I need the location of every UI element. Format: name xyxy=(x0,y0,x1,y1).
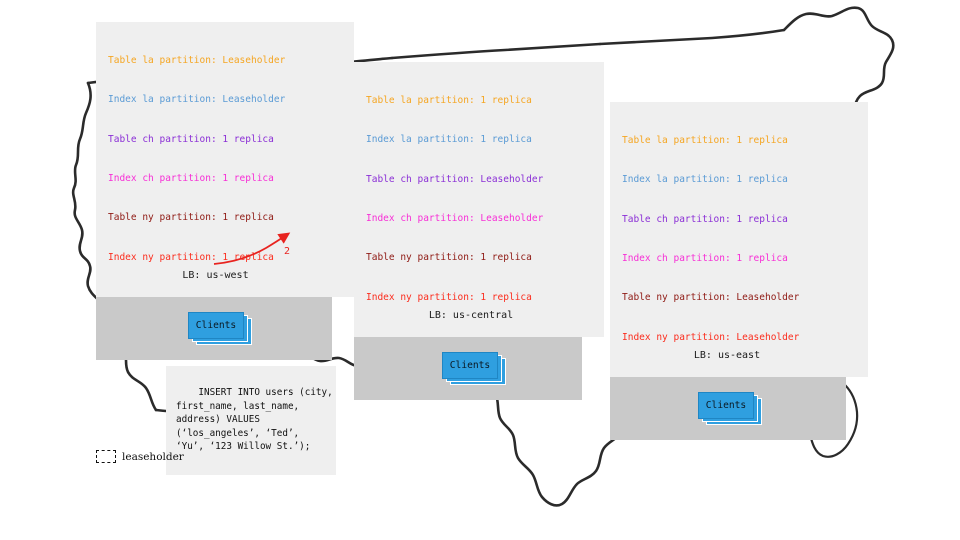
leaseholder-legend-label: leaseholder xyxy=(122,451,184,463)
legend-line-table-ny: Table ny partition: 1 replica xyxy=(366,251,594,264)
legend-line-index-la: Index la partition: Leaseholder xyxy=(108,93,344,106)
legend-line-table-ch: Table ch partition: Leaseholder xyxy=(366,173,594,186)
legend-line-index-la: Index la partition: 1 replica xyxy=(366,133,594,146)
diagram-stage: Table la partition: Leaseholder Index la… xyxy=(0,0,960,540)
load-balancer-us-west[interactable]: LB: us-west xyxy=(163,262,268,288)
clients-us-central[interactable]: Clients xyxy=(442,352,496,377)
partition-legend-us-central: Table la partition: 1 replica Index la p… xyxy=(354,62,604,337)
sql-statement-box: INSERT INTO users (city, first_name, las… xyxy=(166,366,336,475)
clients-label: Clients xyxy=(450,360,490,371)
legend-line-table-ny: Table ny partition: Leaseholder xyxy=(622,291,858,304)
partition-legend-us-east: Table la partition: 1 replica Index la p… xyxy=(610,102,868,377)
clients-us-east[interactable]: Clients xyxy=(698,392,752,417)
sql-statement-text: INSERT INTO users (city, first_name, las… xyxy=(176,387,333,452)
clients-label: Clients xyxy=(196,320,236,331)
clients-button-us-west[interactable]: Clients xyxy=(188,312,244,339)
partition-legend-us-west: Table la partition: Leaseholder Index la… xyxy=(96,22,354,297)
lb-label-us-east: LB: us-east xyxy=(694,350,760,361)
legend-line-table-la: Table la partition: 1 replica xyxy=(366,94,594,107)
leaseholder-legend: leaseholder xyxy=(96,450,184,463)
legend-line-index-la: Index la partition: 1 replica xyxy=(622,173,858,186)
legend-line-index-ch: Index ch partition: 1 replica xyxy=(622,252,858,265)
legend-line-table-ch: Table ch partition: 1 replica xyxy=(108,133,344,146)
clients-label: Clients xyxy=(706,400,746,411)
clients-button-us-central[interactable]: Clients xyxy=(442,352,498,379)
load-balancer-us-central[interactable]: LB: us-central xyxy=(417,302,525,328)
legend-line-table-la: Table la partition: 1 replica xyxy=(622,134,858,147)
annotation-step-number-2: 2 xyxy=(284,246,290,257)
clients-button-us-east[interactable]: Clients xyxy=(698,392,754,419)
load-balancer-us-east[interactable]: LB: us-east xyxy=(674,342,780,368)
lb-label-us-west: LB: us-west xyxy=(182,270,248,281)
legend-line-index-ch: Index ch partition: Leaseholder xyxy=(366,212,594,225)
dashed-rectangle-icon xyxy=(96,450,116,463)
legend-line-table-la: Table la partition: Leaseholder xyxy=(108,54,344,67)
legend-line-index-ch: Index ch partition: 1 replica xyxy=(108,172,344,185)
clients-us-west[interactable]: Clients xyxy=(188,312,242,337)
legend-line-table-ch: Table ch partition: 1 replica xyxy=(622,213,858,226)
legend-line-table-ny: Table ny partition: 1 replica xyxy=(108,211,344,224)
lb-label-us-central: LB: us-central xyxy=(429,310,513,321)
